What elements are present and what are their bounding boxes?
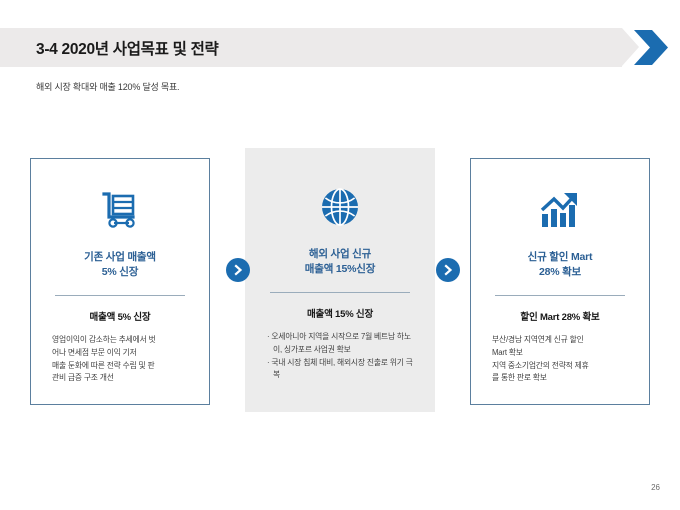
globe-icon xyxy=(318,184,362,230)
cards-row: 기존 사업 매출액 5% 신장 매출액 5% 신장 영업이익이 감소하는 추세에… xyxy=(0,148,680,423)
card-title-line1: 신규 할인 Mart xyxy=(528,251,593,263)
card-title: 해외 사업 신규 매출액 15%신장 xyxy=(305,247,375,277)
card-title: 기존 사업 매출액 5% 신장 xyxy=(84,250,156,280)
card-divider xyxy=(55,295,185,296)
bullet-item: · 국내 시장 침체 대비, 해외시장 진출로 위기 극복 xyxy=(267,357,413,382)
card-title-line2: 28% 확보 xyxy=(539,266,581,278)
card-title: 신규 할인 Mart 28% 확보 xyxy=(528,250,593,280)
growth-chart-icon xyxy=(539,187,581,233)
bullet-text: 오세아니아 지역을 시작으로 7월 베트남 하노이, 싱가포르 사업권 확보 xyxy=(271,332,410,354)
card-subtitle: 매출액 15% 신장 xyxy=(307,306,373,320)
slide-header-bar: 3-4 2020년 사업목표 및 전략 xyxy=(0,28,622,67)
body-line: 영업이익이 감소하는 추세에서 벗 xyxy=(52,334,188,347)
card-subtitle: 할인 Mart 28% 확보 xyxy=(520,309,599,323)
page-number: 26 xyxy=(651,483,660,492)
chevron-right-banner-icon xyxy=(632,28,672,67)
body-line: 어나 면세점 부문 이익 기저 xyxy=(52,347,188,360)
slide-subtitle: 해외 시장 확대와 매출 120% 달성 목표. xyxy=(36,80,179,93)
body-line: 부산/경남 지역연계 신규 할인 xyxy=(492,334,628,347)
card-subtitle: 매출액 5% 신장 xyxy=(90,309,151,323)
body-line: Mart 확보 xyxy=(492,347,628,360)
chevron-right-icon xyxy=(226,258,250,282)
bullet-item: · 오세아니아 지역을 시작으로 7월 베트남 하노이, 싱가포르 사업권 확보 xyxy=(267,331,413,356)
card-divider xyxy=(270,292,410,293)
card-existing-business: 기존 사업 매출액 5% 신장 매출액 5% 신장 영업이익이 감소하는 추세에… xyxy=(30,158,210,405)
card-body: · 오세아니아 지역을 시작으로 7월 베트남 하노이, 싱가포르 사업권 확보… xyxy=(267,331,413,382)
body-line: 를 통한 판로 확보 xyxy=(492,372,628,385)
card-divider xyxy=(495,295,625,296)
bullet-text: 국내 시장 침체 대비, 해외시장 진출로 위기 극복 xyxy=(271,358,412,380)
card-title-line2: 5% 신장 xyxy=(102,266,138,278)
card-title-line1: 해외 사업 신규 xyxy=(309,248,371,260)
body-line: 매출 둔화에 따른 전략 수립 및 판 xyxy=(52,360,188,373)
card-title-line1: 기존 사업 매출액 xyxy=(84,251,156,263)
body-line: 지역 중소기업간의 전략적 제휴 xyxy=(492,360,628,373)
page-title: 3-4 2020년 사업목표 및 전략 xyxy=(36,37,219,59)
chevron-right-icon xyxy=(436,258,460,282)
card-discount-mart: 신규 할인 Mart 28% 확보 할인 Mart 28% 확보 부산/경남 지… xyxy=(470,158,650,405)
body-line: 관비 급증 구조 개선 xyxy=(52,372,188,385)
card-title-line2: 매출액 15%신장 xyxy=(305,263,375,275)
card-body: 부산/경남 지역연계 신규 할인 Mart 확보 지역 중소기업간의 전략적 제… xyxy=(492,334,628,385)
card-body: 영업이익이 감소하는 추세에서 벗 어나 면세점 부문 이익 기저 매출 둔화에… xyxy=(52,334,188,385)
shopping-cart-icon xyxy=(100,187,140,233)
card-overseas-business: 해외 사업 신규 매출액 15%신장 매출액 15% 신장 · 오세아니아 지역… xyxy=(245,148,435,412)
